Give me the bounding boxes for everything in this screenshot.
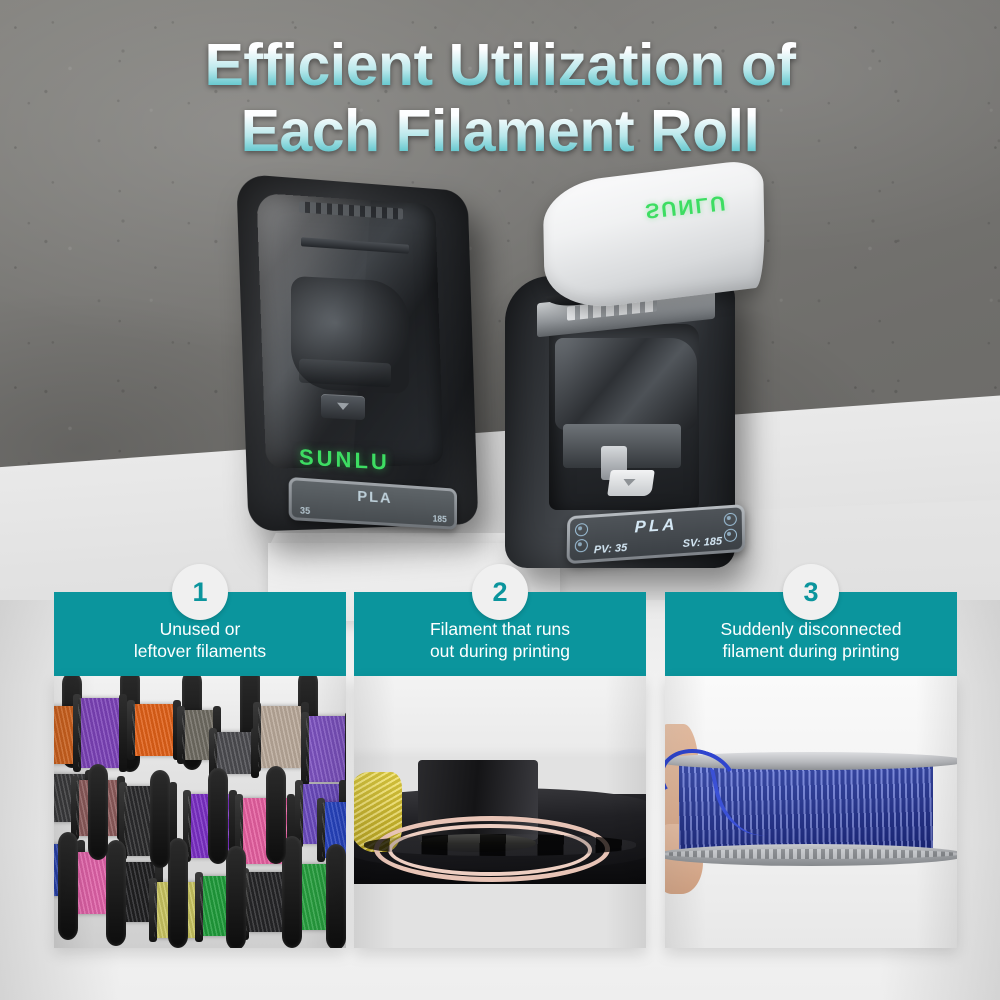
feature-card-3: 3 Suddenly disconnected filament during …	[665, 592, 957, 948]
blue-spool-scene	[665, 676, 957, 948]
headline-line-1: Efficient Utilization of	[0, 32, 1000, 98]
card-2-number-badge: 2	[472, 564, 528, 620]
product-marketing-banner: Efficient Utilization of Each Filament R…	[0, 0, 1000, 1000]
printer-scene	[354, 676, 646, 948]
lcd-material-left: PLA	[357, 488, 392, 507]
feed-release-lever	[607, 470, 655, 496]
headline-line-2: Each Filament Roll	[0, 98, 1000, 164]
card-3-caption: Suddenly disconnected filament during pr…	[675, 618, 947, 662]
card-2-header: 2 Filament that runs out during printing	[354, 592, 646, 676]
lcd-down-arrow-icon[interactable]	[575, 539, 588, 553]
card-2-caption-line-2: out during printing	[364, 640, 636, 662]
lcd-pv-right: PV: 35	[594, 542, 627, 556]
spool-rack-scene	[54, 676, 346, 948]
lcd-pv-left: 35	[300, 505, 310, 516]
feature-card-row: 1 Unused or leftover filaments	[0, 592, 1000, 970]
filament-dryer-closed: SUNLU PLA 35 185	[243, 183, 481, 528]
spool-flange-bottom	[665, 844, 957, 866]
card-3-photo-blue-spool	[665, 676, 957, 948]
card-2-caption: Filament that runs out during printing	[364, 618, 636, 662]
filament-dryer-open: SUNLU PLA PV: 35 SV: 185	[497, 172, 759, 572]
lcd-material-right: PLA	[634, 515, 677, 538]
sunlu-logo: SUNLU	[299, 444, 390, 475]
internal-mechanism-upper	[555, 338, 697, 430]
card-1-number-badge: 1	[172, 564, 228, 620]
lcd-up-arrow-icon[interactable]	[575, 523, 588, 537]
lcd-screen-left: PLA 35 185	[292, 480, 454, 526]
card-3-caption-line-1: Suddenly disconnected	[675, 618, 947, 640]
dryer-open-lid	[543, 158, 766, 314]
feature-card-2: 2 Filament that runs out during printing	[354, 592, 646, 948]
feature-card-1: 1 Unused or leftover filaments	[54, 592, 346, 948]
lcd-set-icon[interactable]	[724, 528, 737, 542]
dryer-open-cavity	[549, 324, 699, 510]
headline: Efficient Utilization of Each Filament R…	[0, 32, 1000, 164]
card-2-caption-line-1: Filament that runs	[364, 618, 636, 640]
card-1-caption: Unused or leftover filaments	[64, 618, 336, 662]
plate-cutouts	[364, 834, 636, 856]
card-1-photo-spool-rack	[54, 676, 346, 948]
card-1-caption-line-2: leftover filaments	[64, 640, 336, 662]
card-2-photo-empty-spool	[354, 676, 646, 948]
lcd-readout-right: PV: 35 SV: 185	[594, 535, 722, 556]
card-1-caption-line-1: Unused or	[64, 618, 336, 640]
lcd-sv-left: 185	[433, 514, 447, 525]
molded-text-emboss	[299, 359, 391, 388]
card-3-caption-line-2: filament during printing	[675, 640, 947, 662]
card-3-number-badge: 3	[783, 564, 839, 620]
lcd-screen-right: PLA PV: 35 SV: 185	[570, 507, 743, 561]
lid-release-button	[321, 394, 365, 420]
lcd-readout-left: 35 185	[300, 505, 447, 524]
lcd-sv-right: SV: 185	[683, 535, 722, 550]
card-3-header: 3 Suddenly disconnected filament during …	[665, 592, 957, 676]
card-1-header: 1 Unused or leftover filaments	[54, 592, 346, 676]
lcd-knob-icon[interactable]	[724, 513, 737, 527]
